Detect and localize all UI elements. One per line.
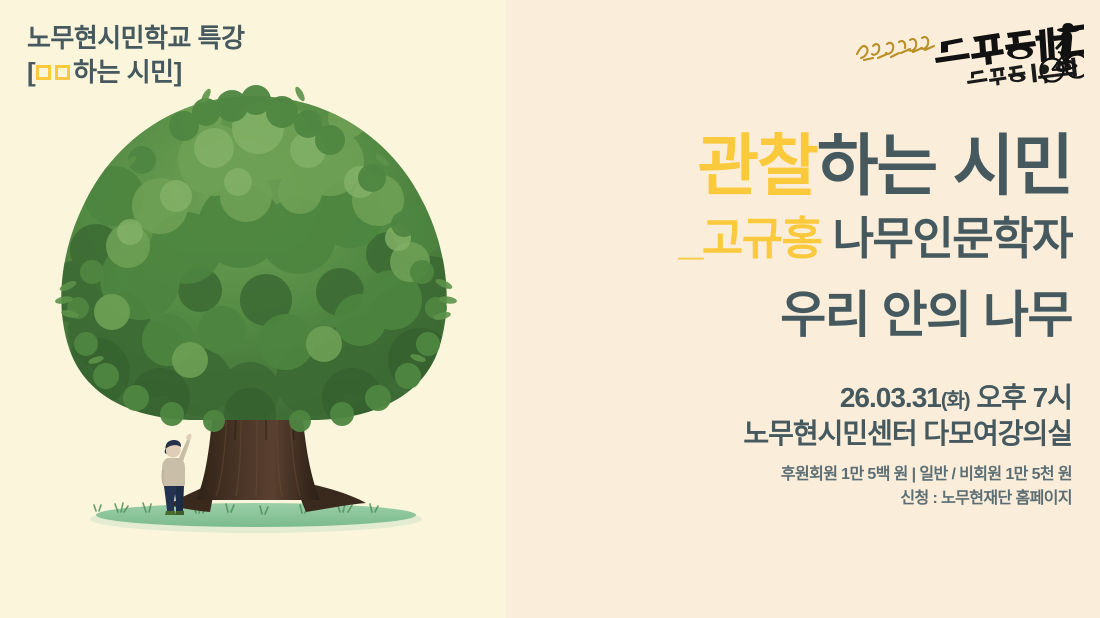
speaker-name: 고규홍 [702, 213, 822, 264]
yellow-square-outline-icon-2 [55, 65, 70, 80]
title-highlight: 관찰 [698, 129, 817, 204]
detail-datetime: 26.03.31(화) 오후 7시 [840, 381, 1072, 415]
speaker-role: 나무인문학자 [833, 213, 1072, 264]
speaker-dash: _ [678, 213, 702, 264]
header-line-2: [ 하는 시민 ] [27, 56, 245, 90]
lecture-title-main: 관찰하는 시민 [698, 132, 1072, 202]
speaker-line: _고규홍 나무인문학자 [678, 214, 1072, 264]
detail-date: 26.03.31 [840, 382, 941, 413]
tree-illustration [0, 0, 506, 618]
detail-weekday: (화) [941, 390, 970, 412]
poster-root: 노무현시민학교 특강 [ 하는 시민 ] [0, 0, 1100, 618]
yellow-square-outline-icon-1 [36, 65, 51, 80]
header-line-1: 노무현시민학교 특강 [27, 22, 245, 56]
detail-venue: 노무현시민센터 다모여강의실 [743, 417, 1072, 451]
bracket-close: ] [174, 56, 182, 90]
title-rest: 하는 시민 [817, 129, 1072, 204]
header-line-2-suffix: 하는 시민 [73, 56, 173, 90]
details-block: 26.03.31(화) 오후 7시 노무현시민센터 다모여강의실 후원회원 1만… [743, 381, 1072, 510]
detail-apply: 신청 : 노무현재단 홈페이지 [900, 487, 1072, 510]
foundation-logo [849, 14, 1084, 94]
lecture-subtitle: 우리 안의 나무 [780, 288, 1072, 343]
header-block: 노무현시민학교 특강 [ 하는 시민 ] [27, 22, 245, 90]
logo-tagline-icon [857, 37, 934, 60]
detail-time: 오후 7시 [970, 382, 1072, 413]
detail-price: 후원회원 1만 5백 원 | 일반 / 비회원 1만 5천 원 [781, 463, 1072, 486]
bracket-open: [ [27, 56, 35, 90]
